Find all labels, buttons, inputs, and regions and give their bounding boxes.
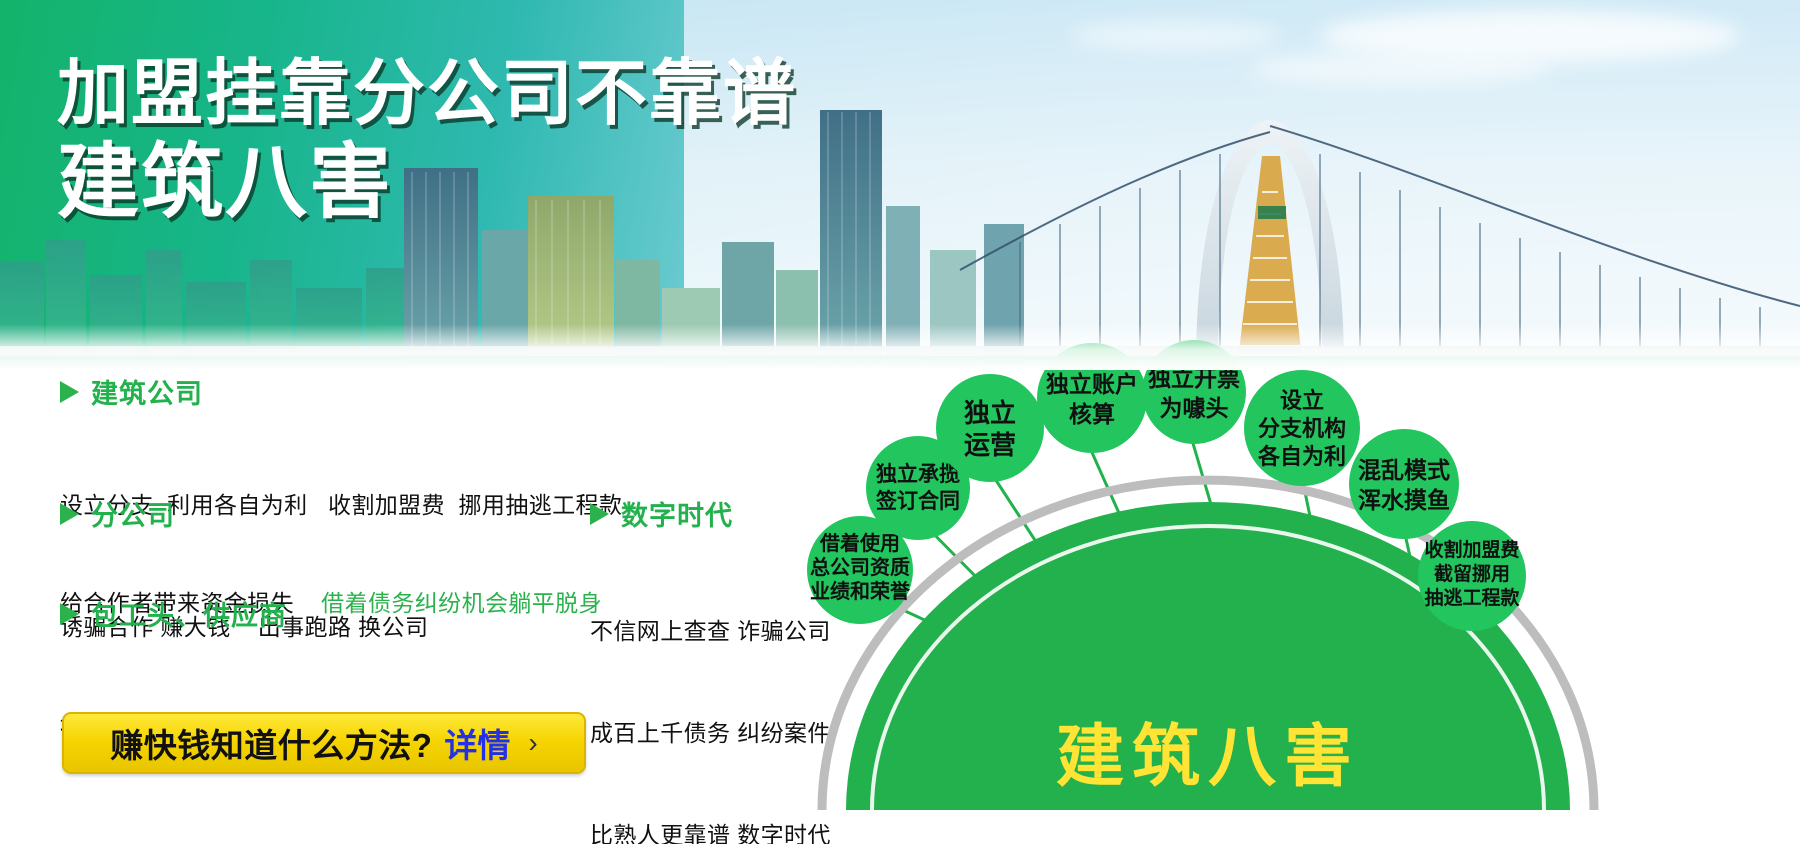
- bubble-b8[interactable]: 收割加盟费 截留挪用 抽逃工程款: [1418, 521, 1526, 631]
- section-body: 不信网上查查 诈骗公司 成百上千债务 纠纷案件 比熟人更靠谱 数字时代: [590, 546, 831, 844]
- bubble-line: 借着使用: [819, 531, 900, 555]
- section-header: 包工头、供应商: [60, 594, 438, 633]
- bubble-line: 总公司资质: [810, 555, 910, 579]
- bubble-line: 签订合同: [875, 489, 960, 513]
- diagram-svg: 建筑八害 借着使用 总公司资质 业绩和荣誉 独立承揽 签订合同 独立 运营: [800, 340, 1800, 844]
- section-contractor-supplier: 包工头、供应商 被骗的一贫如洗 断送人脉 无处翻身: [60, 594, 438, 809]
- bubble-line: 浑水摸鱼: [1358, 487, 1450, 513]
- section-line: 比熟人更靠谱 数字时代: [590, 818, 831, 844]
- dome-label: 建筑八害: [1056, 719, 1360, 795]
- triangle-right-icon: [590, 503, 609, 525]
- line-text: 不信网上查查 诈骗公司: [590, 618, 831, 644]
- section-title: 数字时代: [621, 494, 733, 533]
- triangle-right-icon: [60, 503, 79, 525]
- section-line: 成百上千债务 纠纷案件: [590, 716, 831, 750]
- hero-title-line2: 建筑八害: [57, 140, 797, 227]
- section-digital-era: 数字时代 不信网上查查 诈骗公司 成百上千债务 纠纷案件 比熟人更靠谱 数字时代: [590, 494, 831, 844]
- left-content-panel: 建筑公司 设立分支 利用各自为利 收割加盟费 挪用抽逃工程款 给合作者带来资金损…: [0, 372, 820, 844]
- bubble-line: 为噱头: [1160, 395, 1229, 421]
- cta-main-label: 赚快钱知道什么方法?: [110, 719, 432, 767]
- section-title: 分公司: [91, 494, 175, 533]
- cloud-decor: [1070, 22, 1280, 50]
- bubble-line: 抽逃工程款: [1424, 586, 1520, 609]
- bubble-line: 截留挪用: [1434, 562, 1510, 585]
- bubble-line: 混乱模式: [1358, 457, 1450, 483]
- poster-canvas: 加盟挂靠分公司不靠谱 建筑八害 建筑公司 设立分支 利用各自为利 收割加盟费 挪…: [0, 0, 1800, 844]
- section-line: 不信网上查查 诈骗公司: [590, 614, 831, 648]
- bubble-line: 运营: [964, 430, 1016, 460]
- hero-title: 加盟挂靠分公司不靠谱 建筑八害: [57, 56, 797, 227]
- line-text: 比熟人更靠谱 数字时代: [590, 822, 831, 844]
- bubble-line: 独立承揽: [876, 462, 960, 486]
- triangle-right-icon: [60, 381, 79, 403]
- hero-banner: 加盟挂靠分公司不靠谱 建筑八害: [0, 0, 1800, 370]
- bubble-line: 设立: [1280, 388, 1324, 413]
- bubble-line: 收割加盟费: [1424, 538, 1519, 561]
- bubble-b3[interactable]: 独立 运营: [936, 374, 1044, 482]
- bubble-line: 各自为利: [1257, 444, 1346, 469]
- triangle-right-icon: [60, 603, 79, 625]
- bubble-line: 分支机构: [1258, 416, 1346, 441]
- chevron-right-icon: ›: [528, 727, 537, 759]
- hero-title-line1: 加盟挂靠分公司不靠谱: [57, 56, 797, 132]
- bubble-line: 独立: [964, 398, 1016, 428]
- bubble-line: 核算: [1069, 401, 1115, 427]
- bubble-line: 业绩和荣誉: [810, 579, 911, 603]
- eight-harms-diagram: 建筑八害 借着使用 总公司资质 业绩和荣誉 独立承揽 签订合同 独立 运营: [800, 340, 1800, 844]
- bubble-line: 独立账户: [1046, 371, 1138, 397]
- line-text: 成百上千债务 纠纷案件: [590, 720, 831, 746]
- bubble-b6[interactable]: 设立 分支机构 各自为利: [1244, 370, 1360, 486]
- section-header: 建筑公司: [60, 372, 622, 411]
- section-title: 建筑公司: [91, 372, 203, 411]
- section-header: 分公司: [60, 494, 428, 533]
- cta-button[interactable]: 赚快钱知道什么方法? 详情 ›: [62, 712, 586, 774]
- hero-bottom-fade: [0, 324, 1800, 370]
- bubble-b7[interactable]: 混乱模式 浑水摸鱼: [1349, 429, 1459, 539]
- section-header: 数字时代: [590, 494, 831, 533]
- section-title: 包工头、供应商: [91, 594, 287, 633]
- cloud-decor: [1250, 52, 1550, 86]
- cta-link-label[interactable]: 详情: [444, 719, 510, 767]
